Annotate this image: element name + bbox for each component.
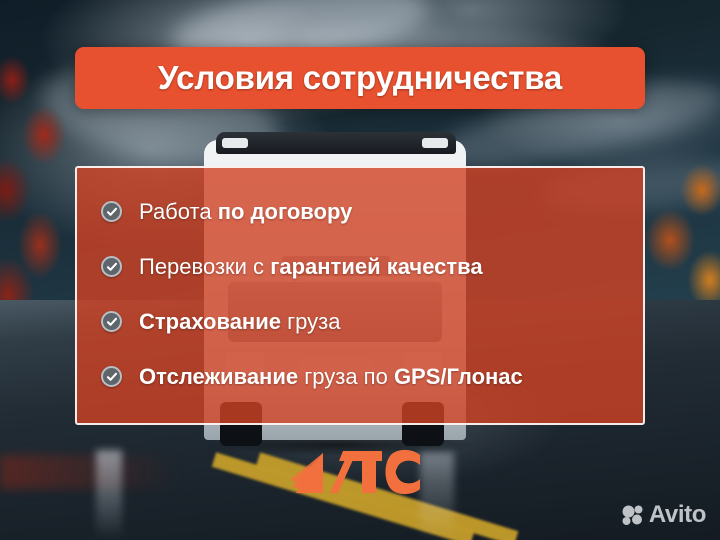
title-banner: Условия сотрудничества (75, 47, 645, 109)
feature-label: Отслеживание груза по GPS/Глонас (139, 364, 523, 390)
truck-roof-spoiler (216, 132, 456, 154)
check-circle-icon (101, 201, 122, 222)
road-reflection (96, 450, 122, 540)
feature-label: Перевозки с гарантией качества (139, 254, 483, 280)
features-panel: Работа по договору Перевозки с гарантией… (75, 166, 645, 425)
road-wet-streak (0, 455, 180, 489)
list-item-contract: Работа по договору (77, 184, 643, 239)
check-circle-icon (101, 311, 122, 332)
feature-label: Работа по договору (139, 199, 352, 225)
feature-list: Работа по договору Перевозки с гарантией… (77, 184, 643, 404)
truck-roof-lamp (422, 138, 448, 148)
poster-canvas: Условия сотрудничества Работа по договор… (0, 0, 720, 540)
feature-label: Страхование груза (139, 309, 340, 335)
avito-wordmark: Avito (649, 501, 706, 529)
list-item-quality: Перевозки с гарантией качества (77, 239, 643, 294)
atc-logo (290, 447, 432, 499)
avito-dots-icon (622, 505, 644, 525)
truck-roof-lamp (222, 138, 248, 148)
check-circle-icon (101, 256, 122, 277)
atc-logo-icon (290, 447, 432, 499)
check-circle-icon (101, 366, 122, 387)
list-item-insurance: Страхование груза (77, 294, 643, 349)
page-title: Условия сотрудничества (158, 59, 562, 97)
list-item-tracking: Отслеживание груза по GPS/Глонас (77, 349, 643, 404)
avito-watermark: Avito (622, 501, 706, 529)
